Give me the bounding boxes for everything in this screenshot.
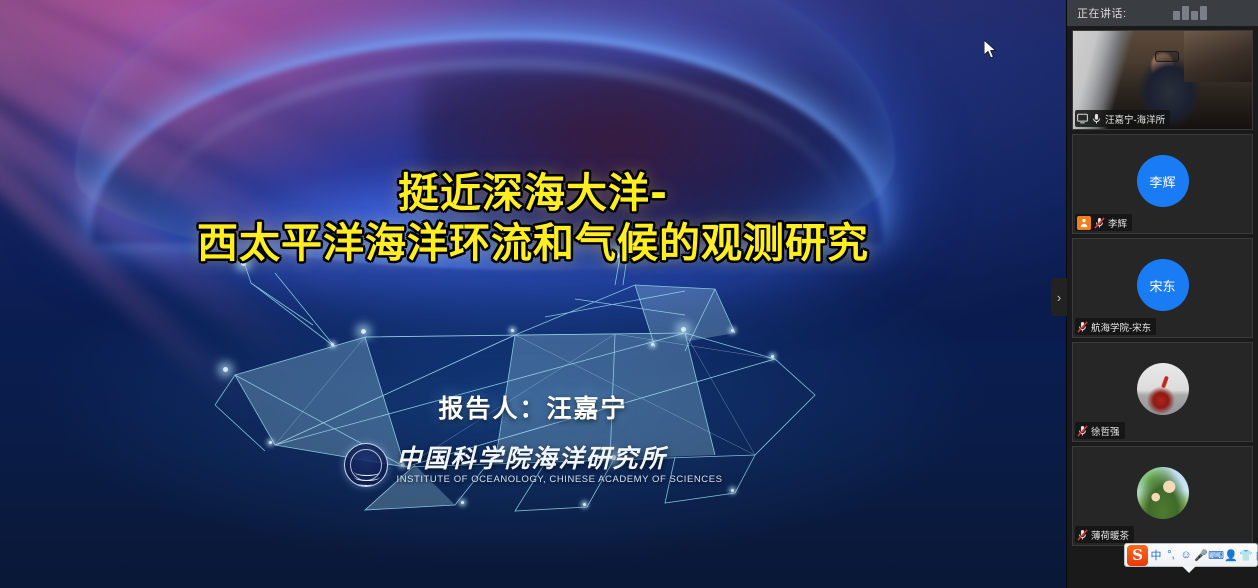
ship-node (223, 367, 228, 372)
ship-node (731, 329, 734, 332)
participant-video-panel: › 正在讲话: 汪嘉宁-海洋所李辉李辉宋东航海学院-宋东徐哲强薄荷暖茶 (1066, 0, 1258, 588)
toolbox-icon[interactable]: ▦ (1254, 545, 1258, 565)
sogou-logo-icon[interactable]: S (1127, 545, 1148, 566)
mic-muted-icon (1094, 217, 1105, 229)
participant-name: 薄荷暖茶 (1091, 528, 1129, 542)
panel-collapse-button[interactable]: › (1051, 278, 1067, 316)
raise-hand-icon (1079, 218, 1089, 228)
ship-node (461, 501, 464, 504)
ship-node (651, 343, 654, 346)
participant-name: 航海学院-宋东 (1091, 320, 1151, 334)
ime-button-group: 中°,☺🎤⌨👤👕▦ (1149, 545, 1258, 565)
ship-node (583, 503, 586, 506)
emoji-icon[interactable]: ☺ (1179, 545, 1193, 565)
raise-hand-badge (1077, 216, 1091, 230)
participant-tile[interactable]: 薄荷暖茶 (1072, 446, 1253, 546)
ship-node (331, 343, 334, 346)
participant-name-bar: 汪嘉宁-海洋所 (1075, 110, 1170, 127)
participant-name: 汪嘉宁-海洋所 (1105, 112, 1165, 126)
mouse-cursor (984, 40, 998, 60)
ship-node (731, 489, 734, 492)
ship-node (241, 261, 246, 266)
participant-name: 徐哲强 (1091, 424, 1120, 438)
voice-input-icon[interactable]: 🎤 (1194, 545, 1208, 565)
skin-icon[interactable]: 👕 (1239, 545, 1253, 565)
screen: 挺近深海大洋- 西太平洋海洋环流和气候的观测研究 报告人：汪嘉宁 中国科学院海洋… (0, 0, 1258, 588)
active-speaker-label: 正在讲话: (1077, 5, 1127, 21)
mic-muted-icon (1077, 425, 1088, 437)
institute-name-en: INSTITUTE OF OCEANOLOGY, CHINESE ACADEMY… (397, 475, 723, 485)
mic-muted-icon (1077, 529, 1088, 541)
participant-name-bar: 薄荷暖茶 (1075, 526, 1134, 543)
active-speaker-bar: 正在讲话: (1067, 0, 1258, 26)
avatar (1137, 467, 1189, 519)
ship-node (771, 355, 774, 358)
soft-keyboard-icon[interactable]: ⌨ (1209, 545, 1223, 565)
mic-muted-icon (1077, 321, 1088, 333)
participant-name-bar: 航海学院-宋东 (1075, 318, 1156, 335)
avatar: 宋东 (1137, 259, 1189, 311)
account-icon[interactable]: 👤 (1224, 545, 1238, 565)
participant-name-bar: 徐哲强 (1075, 422, 1125, 439)
slide-speaker: 报告人：汪嘉宁 (0, 389, 1066, 425)
institute-branding: 中国科学院海洋研究所 INSTITUTE OF OCEANOLOGY, CHIN… (0, 443, 1066, 487)
institute-name-cn: 中国科学院海洋研究所 (397, 446, 723, 471)
ime-expand-arrow-icon[interactable] (1182, 566, 1196, 573)
sogou-ime-toolbar[interactable]: S 中°,☺🎤⌨👤👕▦ (1124, 543, 1258, 567)
punctuation-icon[interactable]: °, (1164, 545, 1178, 565)
participant-tile-list: 汪嘉宁-海洋所李辉李辉宋东航海学院-宋东徐哲强薄荷暖茶 (1067, 30, 1258, 546)
ship-node (615, 253, 620, 258)
mic-icon (1091, 113, 1102, 125)
participant-tile[interactable]: 李辉李辉 (1072, 134, 1253, 234)
ship-node (681, 327, 686, 332)
participant-tile[interactable]: 汪嘉宁-海洋所 (1072, 30, 1253, 130)
audio-level-icon (1173, 6, 1207, 20)
shared-slide[interactable]: 挺近深海大洋- 西太平洋海洋环流和气候的观测研究 报告人：汪嘉宁 中国科学院海洋… (0, 0, 1066, 588)
participant-tile[interactable]: 徐哲强 (1072, 342, 1253, 442)
ship-node (361, 329, 366, 334)
iocas-logo-icon (344, 443, 388, 487)
participant-name-bar: 李辉 (1075, 214, 1132, 231)
chinese-mode-icon[interactable]: 中 (1149, 545, 1163, 565)
screen-share-icon (1077, 113, 1088, 124)
participant-name: 李辉 (1108, 216, 1127, 230)
ship-node (511, 329, 514, 332)
avatar (1137, 363, 1189, 415)
participant-tile[interactable]: 宋东航海学院-宋东 (1072, 238, 1253, 338)
avatar: 李辉 (1137, 155, 1189, 207)
